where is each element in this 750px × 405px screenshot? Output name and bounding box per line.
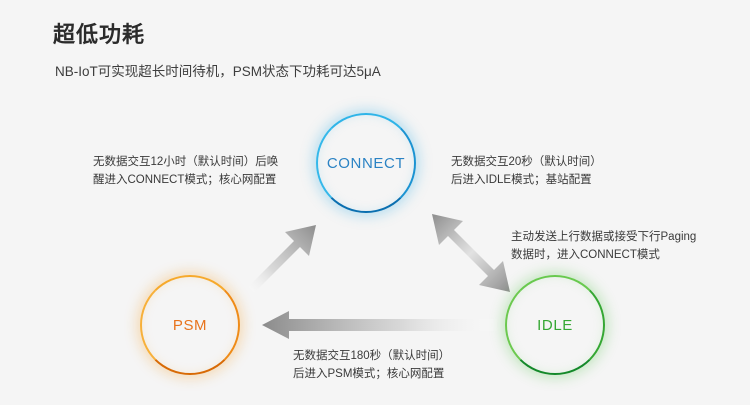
transition-label-connect-to-idle: 无数据交互20秒（默认时间） 后进入IDLE模式；基站配置 [451, 153, 602, 189]
state-node-psm[interactable]: PSM [140, 275, 240, 375]
transition-label-line-2: 醒进入CONNECT模式；核心网配置 [93, 171, 278, 189]
arrow-psm-to-connect [248, 225, 316, 293]
transition-label-idle-to-psm: 无数据交互180秒（默认时间） 后进入PSM模式；核心网配置 [293, 347, 450, 383]
transition-label-line-1: 主动发送上行数据或接受下行Paging [511, 228, 696, 246]
transition-label-line-2: 后进入PSM模式；核心网配置 [293, 365, 450, 383]
transition-label-psm-to-connect: 无数据交互12小时（默认时间）后唤 醒进入CONNECT模式；核心网配置 [93, 153, 278, 189]
state-node-connect[interactable]: CONNECT [316, 113, 416, 213]
transition-label-idle-to-connect: 主动发送上行数据或接受下行Paging 数据时，进入CONNECT模式 [511, 228, 696, 264]
transition-label-line-1: 无数据交互12小时（默认时间）后唤 [93, 153, 278, 171]
state-node-idle[interactable]: IDLE [505, 275, 605, 375]
transition-label-line-2: 数据时，进入CONNECT模式 [511, 246, 696, 264]
state-node-connect-label: CONNECT [327, 155, 405, 172]
diagram-stage: 超低功耗 NB-IoT可实现超长时间待机，PSM状态下功耗可达5μA [0, 0, 750, 405]
page-title: 超低功耗 [53, 21, 145, 49]
arrow-connect-idle-bidirectional [432, 214, 510, 292]
page-subtitle: NB-IoT可实现超长时间待机，PSM状态下功耗可达5μA [55, 62, 381, 82]
transition-label-line-2: 后进入IDLE模式；基站配置 [451, 171, 602, 189]
arrow-idle-to-psm [262, 311, 497, 339]
transition-label-line-1: 无数据交互20秒（默认时间） [451, 153, 602, 171]
transition-label-line-1: 无数据交互180秒（默认时间） [293, 347, 450, 365]
state-node-idle-label: IDLE [537, 317, 573, 334]
state-node-psm-label: PSM [173, 317, 207, 334]
